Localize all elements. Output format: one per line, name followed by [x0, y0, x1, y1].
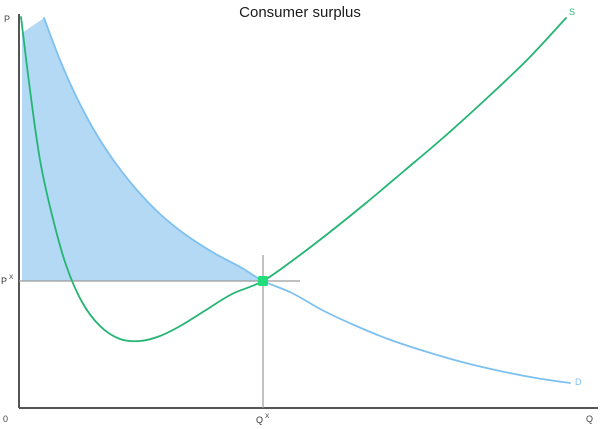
supply-curve-label: S [569, 7, 575, 17]
y-axis-label: P [4, 14, 10, 24]
chart-canvas: Consumer surplus P Q 0 P X Q X S D [0, 0, 600, 429]
price-tick-base: P [1, 276, 7, 286]
demand-curve-label: D [575, 377, 582, 387]
price-tick-superscript: X [9, 274, 14, 281]
x-axis-label: Q [586, 414, 593, 424]
quantity-tick-label: Q X [256, 413, 270, 425]
origin-label: 0 [3, 414, 8, 424]
chart-title: Consumer surplus [239, 4, 361, 21]
equilibrium-point-marker[interactable] [258, 276, 268, 286]
consumer-surplus-chart: Consumer surplus P Q 0 P X Q X S D [0, 0, 600, 429]
price-tick-label: P X [1, 274, 14, 286]
quantity-tick-superscript: X [265, 413, 270, 420]
quantity-tick-base: Q [256, 415, 263, 425]
